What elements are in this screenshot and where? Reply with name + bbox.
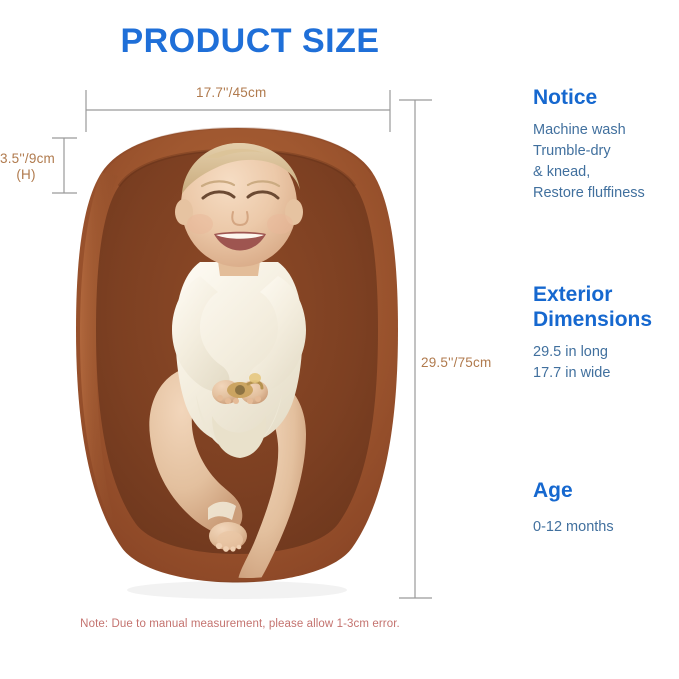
thickness-dimension-group: 3.5''/9cm (H) bbox=[0, 151, 60, 183]
notice-heading: Notice bbox=[533, 85, 679, 110]
notice-line-1: Machine wash bbox=[533, 120, 679, 141]
age-section: Age 0-12 months bbox=[533, 478, 679, 538]
age-heading: Age bbox=[533, 478, 679, 503]
thickness-dimension-sublabel: (H) bbox=[0, 167, 52, 183]
dimensions-section: Exterior Dimensions 29.5 in long 17.7 in… bbox=[533, 282, 679, 384]
dimensions-heading-line-1: Exterior bbox=[533, 282, 679, 307]
notice-line-4: Restore fluffiness bbox=[533, 183, 679, 204]
notice-line-2: Trumble-dry bbox=[533, 141, 679, 162]
width-dimension-label: 17.7''/45cm bbox=[196, 85, 266, 100]
thickness-dimension-label: 3.5''/9cm bbox=[0, 151, 55, 166]
dimensions-heading: Exterior Dimensions bbox=[533, 282, 679, 332]
product-diagram: 17.7''/45cm 29.5''/75cm 3.5''/9cm (H) No… bbox=[0, 0, 510, 679]
dimensions-heading-line-2: Dimensions bbox=[533, 307, 679, 332]
age-line-1: 0-12 months bbox=[533, 517, 679, 538]
notice-section: Notice Machine wash Trumble-dry & knead,… bbox=[533, 85, 679, 204]
measurement-note: Note: Due to manual measurement, please … bbox=[0, 618, 480, 630]
info-sidebar: Notice Machine wash Trumble-dry & knead,… bbox=[520, 0, 679, 679]
notice-line-3: & knead, bbox=[533, 162, 679, 183]
product-illustration bbox=[0, 0, 510, 679]
dimensions-line-1: 29.5 in long bbox=[533, 342, 679, 363]
height-dimension-label: 29.5''/75cm bbox=[421, 355, 491, 370]
dimensions-line-2: 17.7 in wide bbox=[533, 363, 679, 384]
